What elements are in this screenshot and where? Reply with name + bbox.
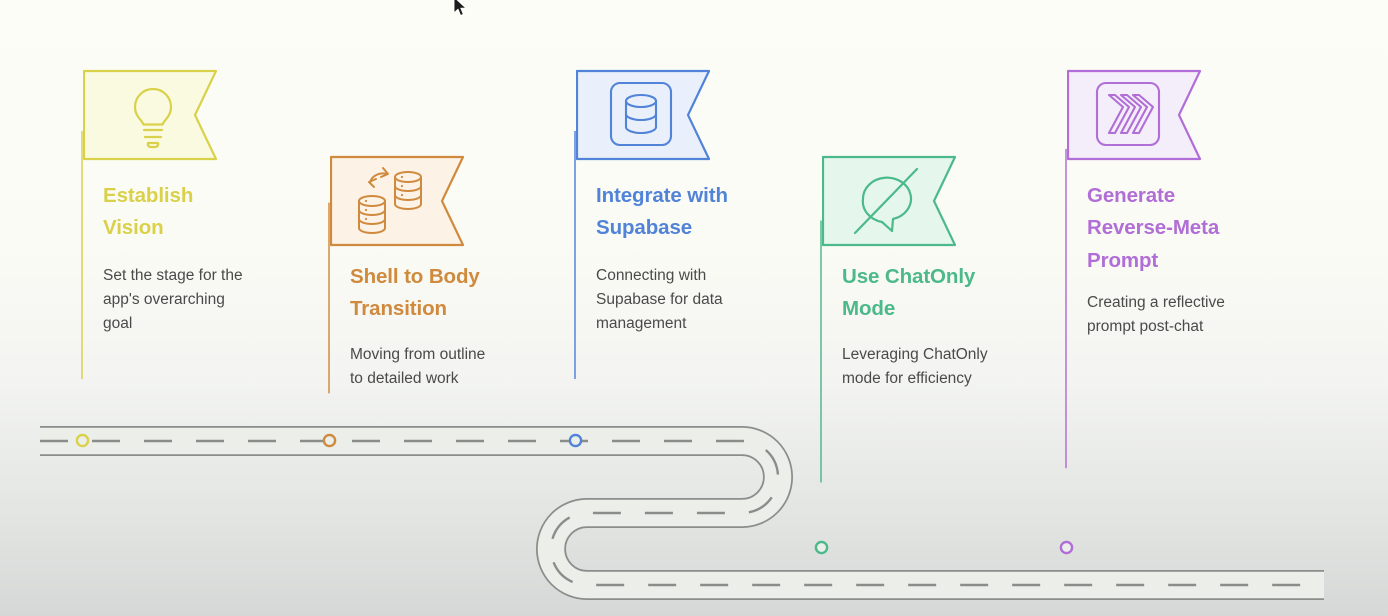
milestone-marker-5[interactable] [1058,539,1075,556]
milestone-flag [1067,69,1207,161]
milestone-flag [330,155,470,247]
milestone-title: Integrate with Supabase [596,180,728,245]
milestone-marker-1[interactable] [74,432,91,449]
milestone-marker-2[interactable] [321,432,338,449]
milestone-description: Moving from outline to detailed work [350,343,485,391]
milestone-title: Generate Reverse-Meta Prompt [1087,180,1219,277]
milestone-flag [576,69,716,161]
milestone-description: Set the stage for the app's overarching … [103,264,243,336]
milestone-description: Leveraging ChatOnly mode for efficiency [842,343,988,391]
diagram-canvas: Establish Vision Set the stage for the a… [0,0,1388,616]
milestone-title: Use ChatOnly Mode [842,261,975,326]
milestone-description: Connecting with Supabase for data manage… [596,264,723,336]
milestone-description: Creating a reflective prompt post-chat [1087,291,1225,339]
road-surface-inner [40,441,1324,585]
milestone-flag [822,155,962,247]
milestone-marker-4[interactable] [813,539,830,556]
milestone-marker-3[interactable] [567,432,584,449]
milestone-title: Shell to Body Transition [350,261,480,326]
milestone-title: Establish Vision [103,180,193,245]
milestone-flag [83,69,223,161]
